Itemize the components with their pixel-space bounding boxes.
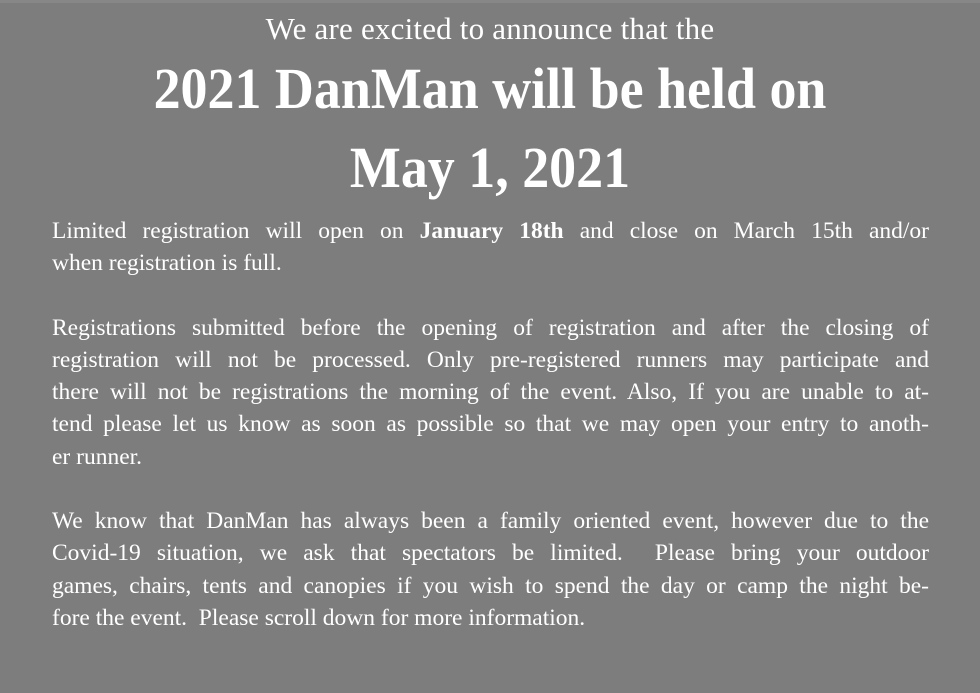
paragraph-list: Limited registration will open on Januar… <box>52 215 929 634</box>
paragraph-line: We know that DanMan has always been a fa… <box>52 505 929 537</box>
paragraph-line: when registration is full. <box>52 247 929 279</box>
headline-main-line-2: May 1, 2021 <box>34 128 945 208</box>
top-edge-band <box>0 0 980 3</box>
paragraph-line: Registrations submitted before the openi… <box>52 312 929 344</box>
paragraph-covid-spectators: We know that DanMan has always been a fa… <box>52 505 929 634</box>
body-block: Limited registration will open on Januar… <box>52 215 929 634</box>
paragraph-line: fore the event. Please scroll down for m… <box>52 602 929 634</box>
paragraph-line: tend please let us know as soon as possi… <box>52 408 929 440</box>
paragraph-line: registration will not be processed. Only… <box>52 344 929 376</box>
text-run: tend please let us know as soon as possi… <box>52 411 929 437</box>
text-run: and close on March 15th and/or <box>564 218 929 244</box>
headline-main-line-1: 2021 DanMan will be held on <box>34 50 945 128</box>
text-run: registration will not be processed. Only… <box>52 347 929 373</box>
paragraph-line: er runner. <box>52 441 929 473</box>
headline-block: We are excited to announce that the 2021… <box>0 8 980 208</box>
text-run: games, chairs, tents and canopies if you… <box>52 573 929 599</box>
announcement-poster: We are excited to announce that the 2021… <box>0 0 980 693</box>
paragraph-line: Limited registration will open on Januar… <box>52 215 929 247</box>
text-run: Covid-19 situation, we ask that spectato… <box>52 540 929 566</box>
paragraph-line: games, chairs, tents and canopies if you… <box>52 570 929 602</box>
paragraph-registration-rules: Registrations submitted before the openi… <box>52 312 929 473</box>
headline-intro-line: We are excited to announce that the <box>0 8 980 50</box>
text-run: Registrations submitted before the openi… <box>52 315 929 341</box>
text-run: Limited registration will open on <box>52 218 420 244</box>
paragraph-line: Covid-19 situation, we ask that spectato… <box>52 537 929 569</box>
paragraph-line: there will not be registrations the morn… <box>52 376 929 408</box>
text-run: fore the event. Please scroll down for m… <box>52 605 585 631</box>
text-run: there will not be registrations the morn… <box>52 379 929 405</box>
text-run: when registration is full. <box>52 250 282 276</box>
text-run: We know that DanMan has always been a fa… <box>52 508 929 534</box>
paragraph-registration-window: Limited registration will open on Januar… <box>52 215 929 280</box>
emphasized-text: January 18th <box>420 218 564 244</box>
text-run: er runner. <box>52 444 142 470</box>
